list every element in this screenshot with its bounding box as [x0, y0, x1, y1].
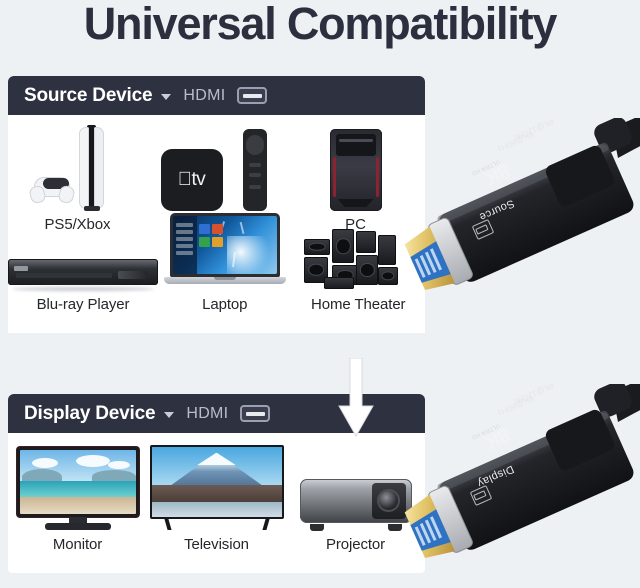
device-bluray-player: Blu-ray Player	[8, 233, 158, 313]
device-laptop: Laptop	[158, 233, 292, 313]
device-label: Television	[184, 536, 249, 553]
display-device-row: Monitor	[8, 443, 425, 553]
device-label: Projector	[326, 536, 385, 553]
device-ps5-xbox: PS5/Xbox	[8, 121, 147, 233]
source-panel-header: Source Device HDMI	[8, 76, 425, 115]
television-icon	[150, 443, 284, 531]
source-device-row-2: Blu-ray Player	[8, 233, 425, 313]
device-television: Television	[147, 443, 286, 553]
arrow-down-icon	[338, 358, 374, 438]
source-panel-title: Source Device	[24, 85, 152, 107]
display-hdmi-label: HDMI	[186, 405, 228, 423]
display-panel-body: Monitor	[8, 433, 425, 573]
source-hdmi-label: HDMI	[183, 87, 225, 105]
hdmi-cable-source: 8K ULTRA HD 8K@60Hz 4K@120Hz Source	[400, 118, 640, 316]
bluray-player-icon	[8, 233, 158, 291]
source-device-panel: Source Device HDMI	[8, 76, 425, 333]
device-label: Blu-ray Player	[37, 296, 130, 313]
projector-icon	[300, 443, 412, 531]
display-panel-title: Display Device	[24, 403, 155, 425]
device-label: Home Theater	[311, 296, 405, 313]
hdmi-port-icon	[240, 405, 270, 422]
source-panel-body: PS5/Xbox tv	[8, 115, 425, 333]
streaming-box-icon: tv	[161, 121, 273, 211]
page-title: Universal Compatibility	[0, 0, 640, 52]
infographic-canvas: Universal Compatibility Source Device HD…	[0, 0, 640, 583]
monitor-icon	[17, 443, 139, 531]
device-monitor: Monitor	[8, 443, 147, 553]
hdmi-port-icon	[237, 87, 267, 104]
game-console-icon	[30, 121, 126, 211]
device-label: Monitor	[53, 536, 102, 553]
device-label: PS5/Xbox	[45, 216, 111, 233]
laptop-icon	[164, 233, 286, 291]
desktop-tower-icon	[330, 121, 382, 211]
chevron-down-icon	[161, 94, 171, 100]
hdmi-cable-display: 8K ULTRA HD 8K@60Hz 4K@120Hz Display	[398, 384, 640, 583]
device-label: Laptop	[202, 296, 247, 313]
chevron-down-icon	[164, 412, 174, 418]
